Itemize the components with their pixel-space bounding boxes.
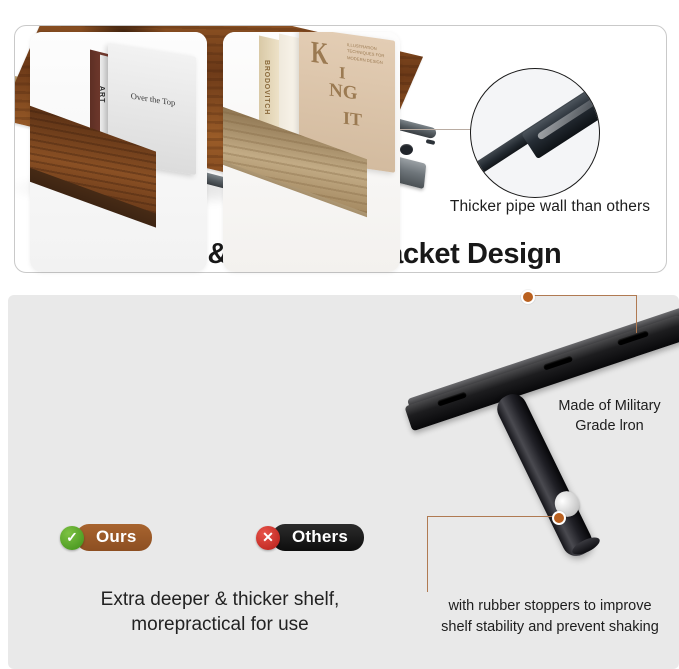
- callout-label-iron-line2: Grade lron: [575, 418, 644, 434]
- cross-icon: ✕: [256, 526, 280, 550]
- callout-line-iron: [526, 295, 637, 296]
- book-cover-fineprint: ILLUSTRATION TECHNIQUES FOR MODERN DESIG…: [347, 42, 391, 67]
- comparison-card-others: BRODOVITCH K ILLUSTRATION TECHNIQUES FOR…: [223, 32, 400, 272]
- magnifier-caption: Thicker pipe wall than others: [425, 198, 667, 216]
- magnifier-circle: [470, 68, 600, 198]
- callout-label-rubber-line1: with rubber stoppers to improve: [448, 598, 651, 614]
- callout-line-rubber: [427, 516, 557, 517]
- bracket-slot: [426, 139, 436, 145]
- bracket-screw-hole: [400, 144, 413, 155]
- comparison-caption-line1: Extra deeper & thicker shelf,: [101, 589, 340, 610]
- book-cover-letter-ng: NG: [329, 79, 358, 105]
- book-spine-label-others: BRODOVITCH: [263, 60, 270, 115]
- comparison-card-ours: ART Over the Top: [30, 32, 207, 272]
- badge-ours-label: Ours: [76, 524, 152, 551]
- callout-label-rubber-line2: shelf stability and prevent shaking: [441, 619, 659, 635]
- callout-dot-icon: [521, 290, 535, 304]
- callout-label-iron: Made of Military Grade lron: [540, 396, 679, 437]
- check-icon: ✓: [60, 526, 84, 550]
- callout-line-rubber-vertical: [427, 516, 428, 592]
- callout-label-iron-line1: Made of Military: [558, 398, 660, 414]
- book-cover-letter-k: K: [311, 34, 328, 73]
- comparison-caption-line2: morepractical for use: [131, 614, 308, 635]
- callout-label-rubber: with rubber stoppers to improve shelf st…: [421, 596, 679, 638]
- book-spine-label-ours: ART: [98, 86, 105, 103]
- badge-ours: ✓ Ours: [60, 524, 152, 551]
- black-bracket-image: [415, 298, 679, 578]
- callout-line-iron-vertical: [636, 295, 637, 333]
- comparison-caption: Extra deeper & thicker shelf, morepracti…: [20, 588, 420, 637]
- book-title-ours: Over the Top: [122, 89, 184, 109]
- badge-others: ✕ Others: [256, 524, 364, 551]
- callout-dot-icon: [552, 511, 566, 525]
- badge-others-label: Others: [272, 524, 364, 551]
- book-cover-letter-it: IT: [343, 107, 362, 131]
- infographic-root: Thicker pipe wall than others Smart & In…: [0, 0, 679, 669]
